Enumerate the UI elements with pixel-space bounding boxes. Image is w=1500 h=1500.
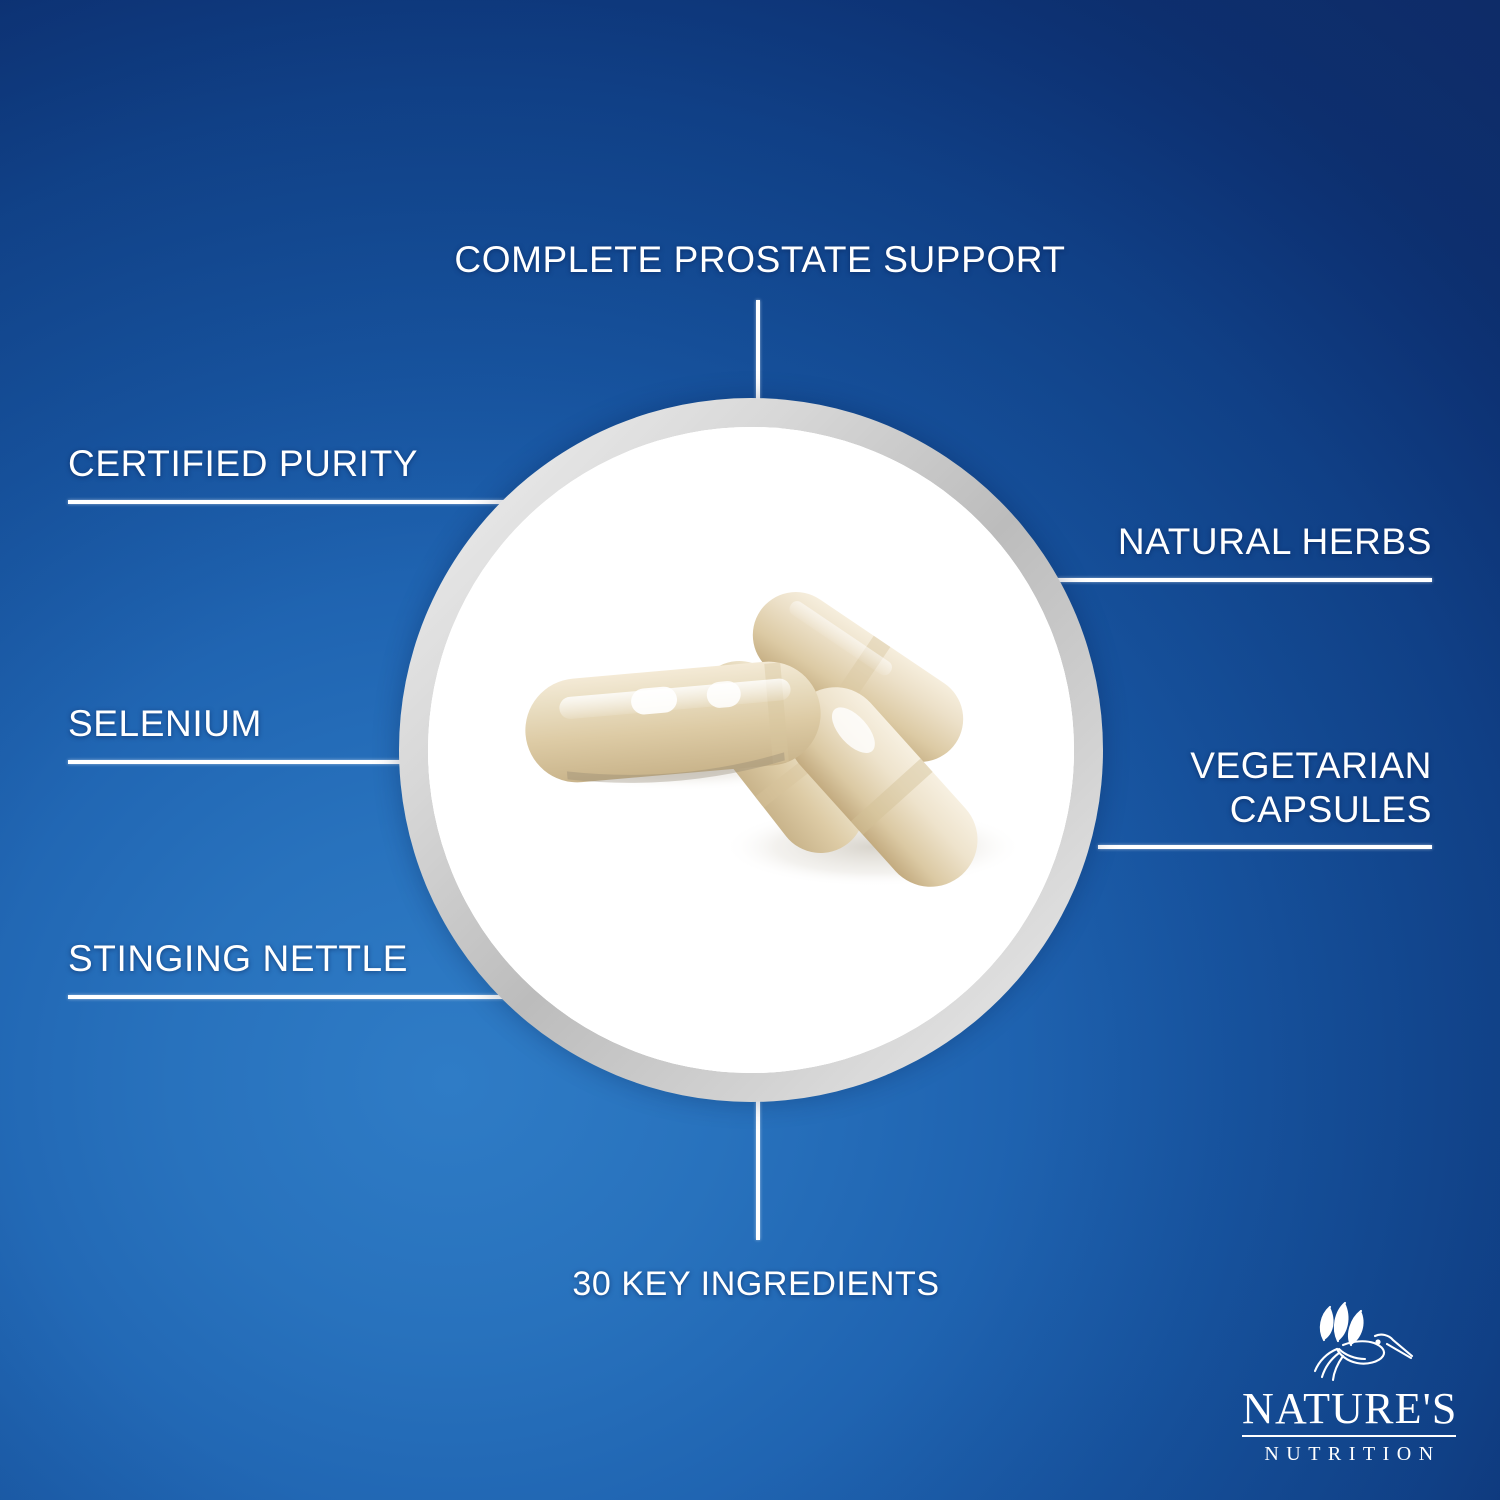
callout-bottom: 30 KEY INGREDIENTS bbox=[356, 1264, 1156, 1304]
product-photo-inner bbox=[428, 427, 1074, 1073]
callout-vegetarian-capsules: VEGETARIAN CAPSULES bbox=[1012, 744, 1432, 832]
hummingbird-icon bbox=[1283, 1299, 1415, 1385]
callout-top: COMPLETE PROSTATE SUPPORT bbox=[360, 238, 1160, 282]
brand-tagline: NUTRITION bbox=[1242, 1437, 1456, 1464]
connector-line-right-mid bbox=[1098, 845, 1432, 849]
brand-logo: NATURE'S NUTRITION bbox=[1242, 1299, 1456, 1464]
connector-line-left-mid bbox=[68, 760, 405, 764]
callout-stinging-nettle: STINGING NETTLE bbox=[68, 937, 408, 981]
product-photo-circle bbox=[399, 398, 1103, 1102]
callout-certified-purity: CERTIFIED PURITY bbox=[68, 442, 418, 486]
product-infographic: COMPLETE PROSTATE SUPPORT CERTIFIED PURI… bbox=[0, 0, 1500, 1500]
callout-vegetarian-capsules-line1: VEGETARIAN bbox=[1190, 745, 1432, 786]
connector-line-top bbox=[756, 300, 760, 412]
connector-line-right-top bbox=[1055, 578, 1432, 582]
callout-vegetarian-capsules-line2: CAPSULES bbox=[1230, 789, 1432, 830]
brand-name: NATURE'S bbox=[1242, 1387, 1456, 1437]
callout-natural-herbs: NATURAL HERBS bbox=[1118, 520, 1432, 564]
capsules-photo bbox=[428, 427, 1074, 1073]
connector-line-bottom bbox=[756, 1100, 760, 1240]
callout-selenium: SELENIUM bbox=[68, 702, 262, 746]
